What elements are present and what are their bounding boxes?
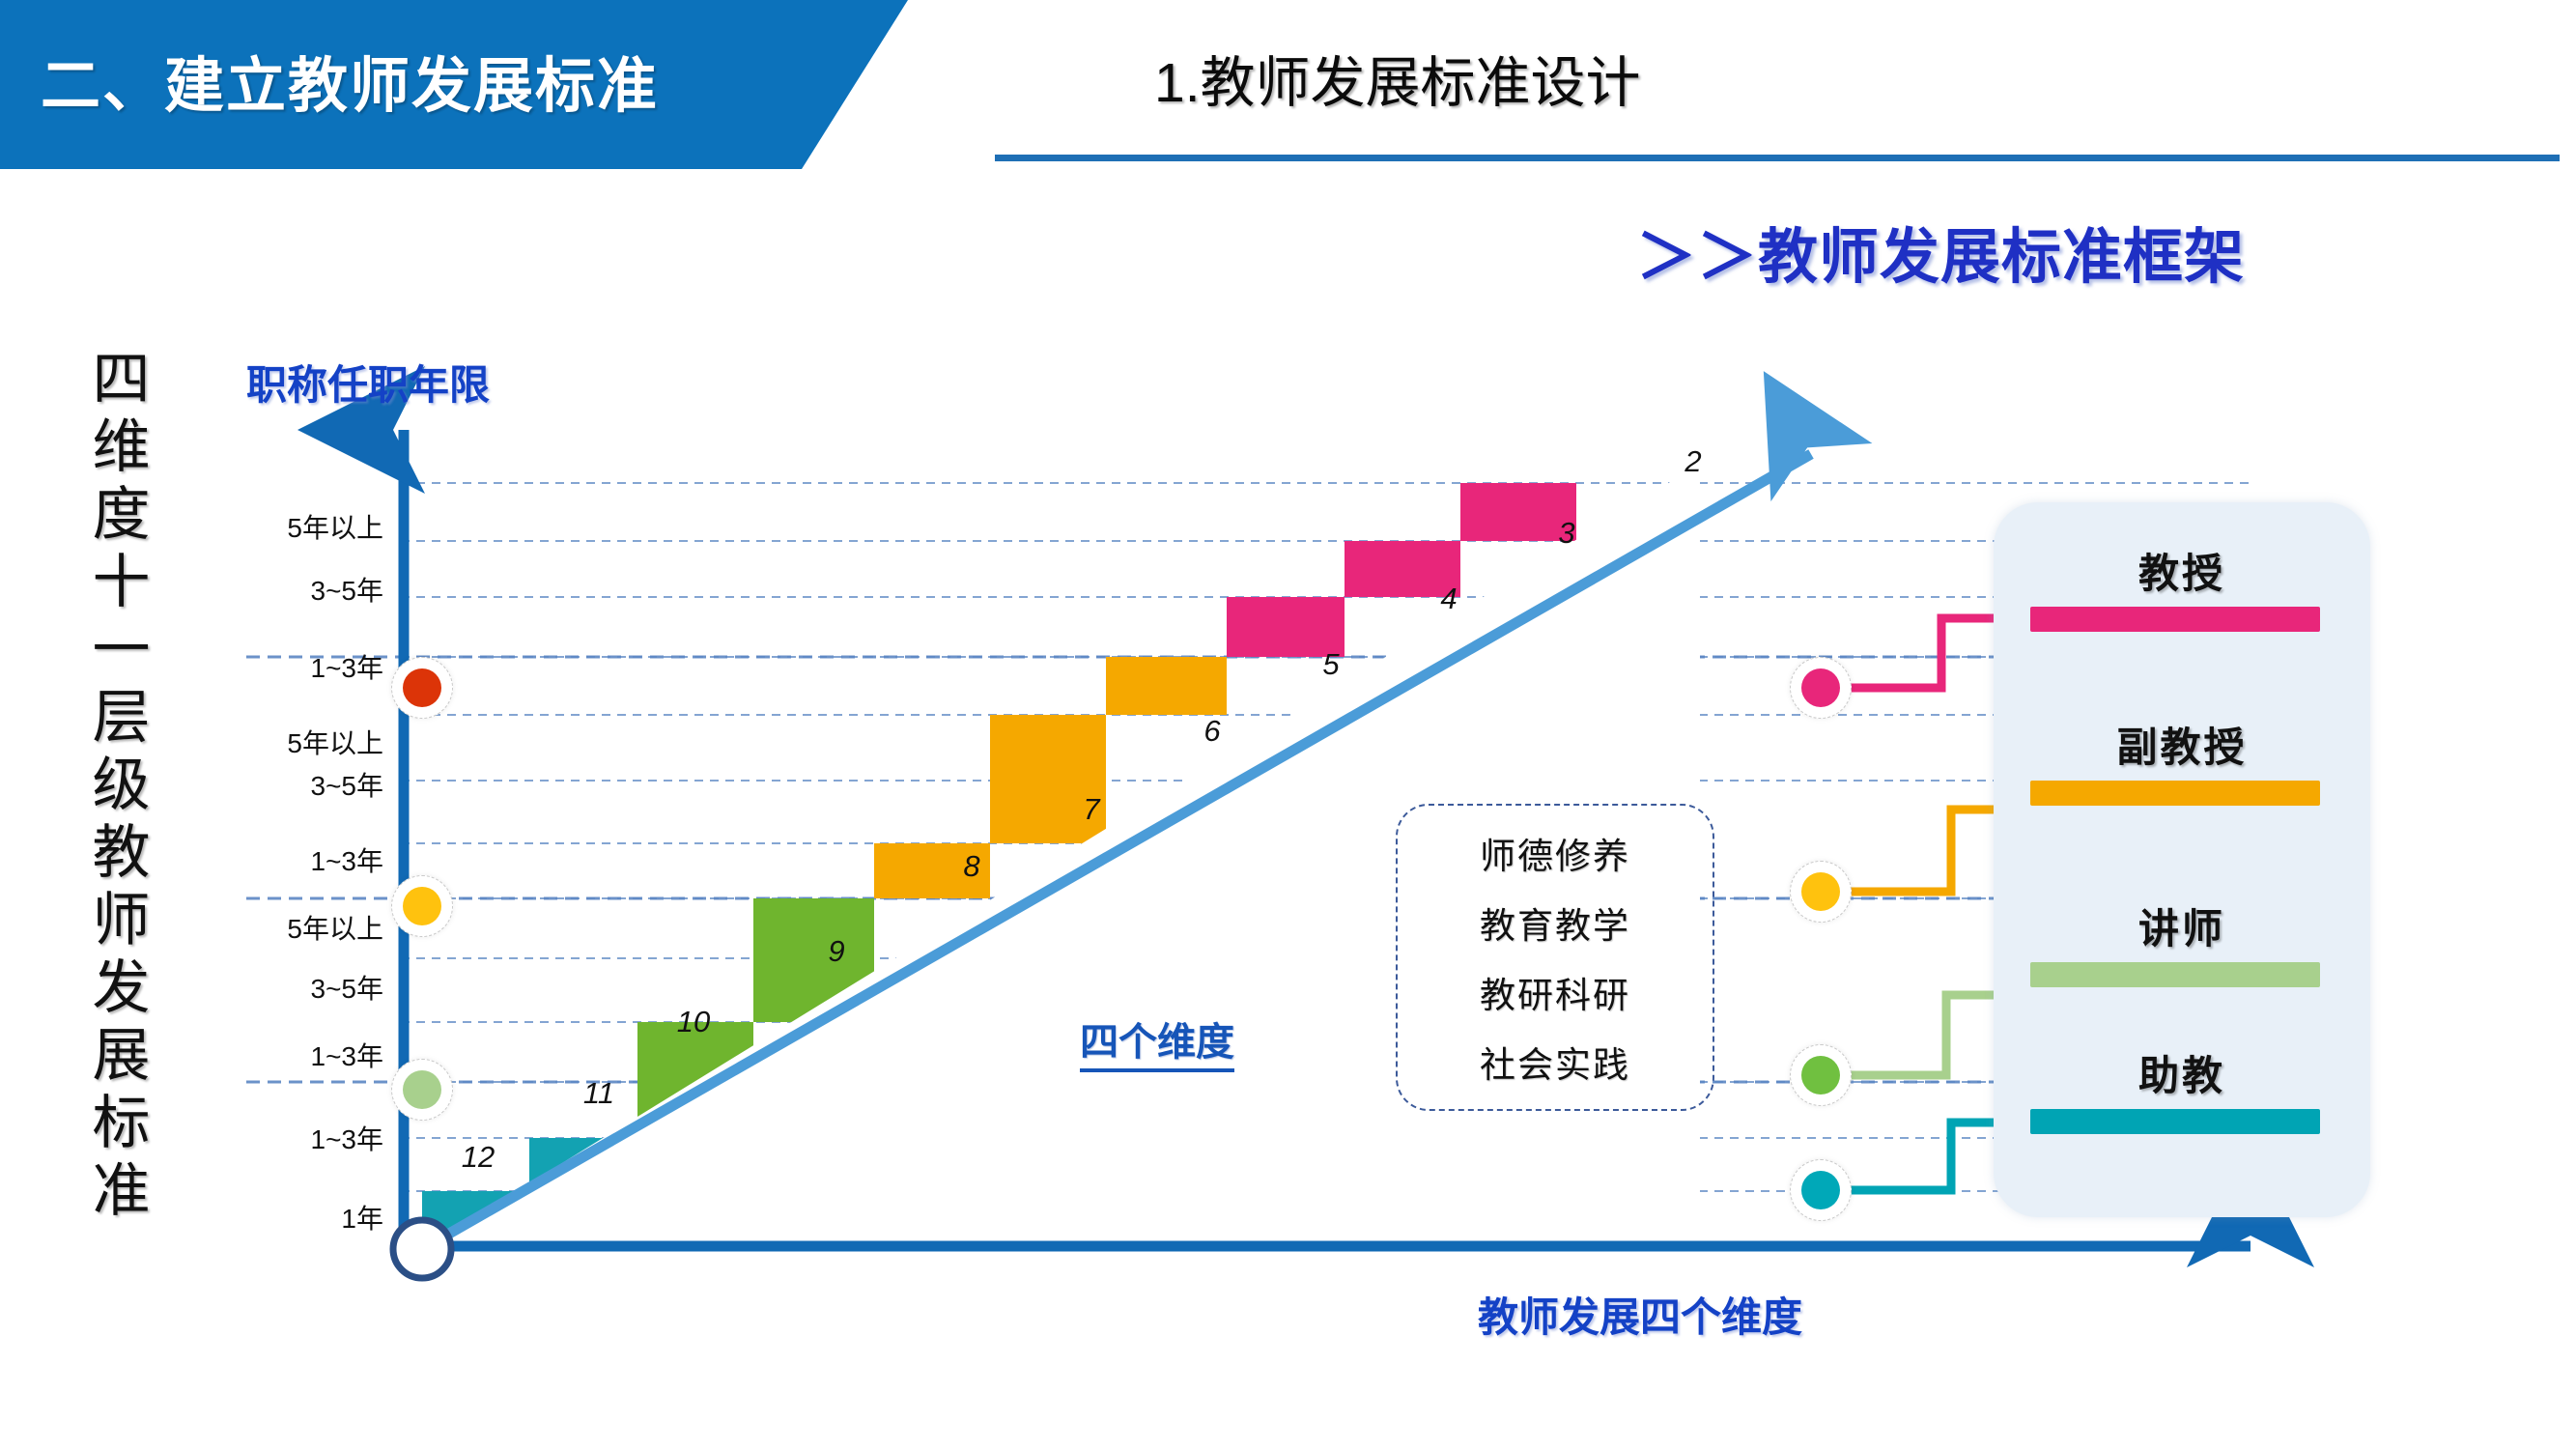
- y-tick-label: 1~3年: [239, 840, 383, 879]
- rank-node-assistant: [1790, 1159, 1852, 1221]
- y-tick-label: 5年以上: [239, 723, 383, 761]
- step-number: 8: [963, 849, 979, 884]
- rank-name: 教授: [1994, 541, 2370, 600]
- rank-name: 讲师: [1994, 896, 2370, 955]
- y-tick-label: 3~5年: [239, 765, 383, 804]
- y-tick-label: 1年: [239, 1198, 383, 1237]
- rank-node-lecturer: [1790, 1044, 1852, 1106]
- rank-item-assoc-prof[interactable]: 副教授: [1994, 715, 2370, 774]
- dimension-item: 师德修养: [1480, 827, 1630, 879]
- axis-node-lecturer: [391, 1059, 453, 1121]
- rank-name: 副教授: [1994, 715, 2370, 774]
- dimension-item: 社会实践: [1480, 1036, 1630, 1088]
- y-tick-label: 5年以上: [239, 908, 383, 947]
- step-number: 6: [1203, 714, 1220, 749]
- y-tick-label: 1~3年: [239, 647, 383, 686]
- rank-item-assistant[interactable]: 助教: [1994, 1043, 2370, 1102]
- y-tick-label: 1~3年: [239, 1036, 383, 1074]
- rank-node-professor: [1790, 657, 1852, 719]
- dimensions-box: 师德修养 教育教学 教研科研 社会实践: [1396, 804, 1714, 1111]
- dimension-item: 教研科研: [1480, 966, 1630, 1018]
- step-number: 3: [1558, 516, 1574, 551]
- step-number: 2: [1684, 444, 1701, 479]
- y-axis-title: 职称任职年限: [246, 353, 490, 412]
- y-tick-label: 3~5年: [239, 570, 383, 609]
- axis-node-assoc-prof: [391, 875, 453, 937]
- x-axis-title: 教师发展四个维度: [1478, 1285, 1802, 1344]
- rank-bar-assoc-prof: [2030, 781, 2320, 806]
- axis-node-professor: [391, 657, 453, 719]
- origin-marker: [393, 1220, 451, 1278]
- step-number: 11: [583, 1076, 614, 1111]
- rank-item-professor[interactable]: 教授: [1994, 541, 2370, 600]
- step-number: 10: [677, 1005, 710, 1039]
- dimension-item: 教育教学: [1480, 896, 1630, 949]
- step-number: 9: [828, 934, 844, 969]
- step-number: 4: [1440, 582, 1457, 616]
- rank-item-lecturer[interactable]: 讲师: [1994, 896, 2370, 955]
- y-tick-label: 5年以上: [239, 507, 383, 546]
- y-tick-label: 3~5年: [239, 968, 383, 1007]
- step-number: 5: [1322, 647, 1339, 682]
- rank-bar-professor: [2030, 607, 2320, 632]
- rank-panel: 教授 副教授 讲师 助教: [1994, 502, 2370, 1217]
- y-tick-label: 1~3年: [239, 1119, 383, 1157]
- rank-bar-lecturer: [2030, 962, 2320, 987]
- step-number: 12: [462, 1140, 495, 1175]
- rank-node-assoc-prof: [1790, 861, 1852, 923]
- rank-bar-assistant: [2030, 1109, 2320, 1134]
- four-dimensions-label: 四个维度: [1080, 1010, 1234, 1072]
- step-number: 7: [1083, 792, 1099, 827]
- rank-name: 助教: [1994, 1043, 2370, 1102]
